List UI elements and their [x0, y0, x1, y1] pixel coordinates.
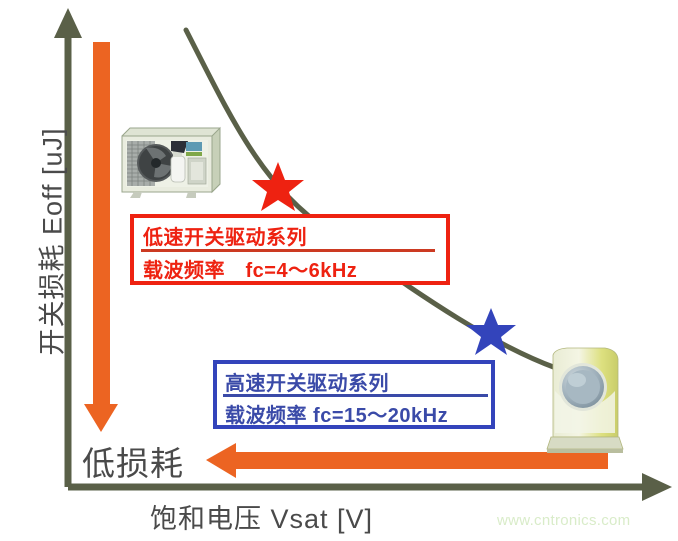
x-axis-label: 饱和电压 Vsat [V] [150, 497, 373, 536]
high-speed-callout-line2: 载波频率 fc=15～20kHz [225, 399, 448, 428]
watermark: www.cntronics.com [497, 512, 630, 529]
washing-machine-image [545, 345, 625, 455]
red-star-icon [250, 160, 306, 214]
chart-canvas: 低速开关驱动系列 载波频率 fc=4～6kHz 高速开关驱动系列 载波频率 fc… [0, 0, 678, 541]
air-conditioner-outdoor-unit-image [116, 118, 226, 200]
y-axis-label: 开关损耗 Eoff [uJ] [31, 32, 70, 452]
low-speed-callout-box: 低速开关驱动系列 载波频率 fc=4～6kHz [130, 214, 450, 285]
high-speed-callout-rule [223, 394, 488, 397]
high-speed-callout-box: 高速开关驱动系列 载波频率 fc=15～20kHz [213, 360, 495, 429]
lower-loss-vertical-arrow [84, 42, 118, 432]
low-loss-label: 低损耗 [82, 437, 184, 485]
low-speed-callout-rule [141, 249, 435, 252]
low-speed-callout-line1: 低速开关驱动系列 [143, 221, 307, 250]
high-speed-callout-line1: 高速开关驱动系列 [225, 367, 389, 396]
blue-star-icon [464, 306, 518, 358]
low-speed-callout-line2: 载波频率 fc=4～6kHz [143, 254, 357, 283]
